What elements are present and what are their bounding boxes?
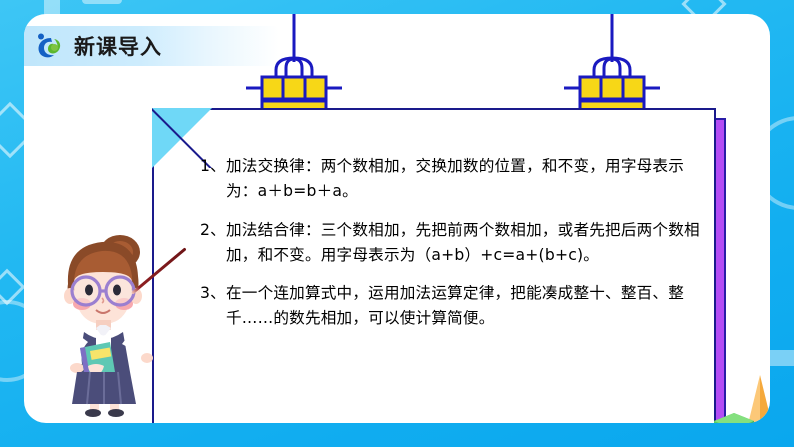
slide-root: 新课导入 [0, 0, 794, 447]
decorative-bar-icon [82, 0, 122, 4]
list-item-number: 1、 [200, 154, 226, 179]
geometric-solids-icon [712, 369, 770, 423]
hanging-basket-lantern-icon [564, 14, 660, 120]
slide-header: 新课导入 [24, 26, 279, 66]
list-item: 1、 加法交换律：两个数相加，交换加数的位置，和不变，用字母表示为：a＋b=b＋… [200, 154, 700, 205]
cartoon-teacher-girl-icon [44, 232, 166, 417]
content-text-block: 1、 加法交换律：两个数相加，交换加数的位置，和不变，用字母表示为：a＋b=b＋… [200, 154, 700, 332]
list-item-text: 加法结合律：三个数相加，先把前两个数相加，或者先把后两个数相加，和不变。用字母表… [226, 221, 700, 264]
list-item-number: 2、 [200, 218, 226, 243]
hanging-basket-lantern-icon [246, 14, 342, 120]
list-item: 3、 在一个连加算式中，运用加法运算定律，把能凑成整十、整百、整千……的数先相加… [200, 281, 700, 332]
leaf-circle-logo-icon [34, 31, 64, 61]
slide-card: 新课导入 [24, 14, 770, 423]
list-item: 2、 加法结合律：三个数相加，先把前两个数相加，或者先把后两个数相加，和不变。用… [200, 218, 700, 269]
list-item-number: 3、 [200, 281, 226, 306]
page-title: 新课导入 [74, 31, 162, 61]
list-item-text: 加法交换律：两个数相加，交换加数的位置，和不变，用字母表示为：a＋b=b＋a。 [226, 157, 684, 200]
list-item-text: 在一个连加算式中，运用加法运算定律，把能凑成整十、整百、整千……的数先相加，可以… [226, 284, 684, 327]
